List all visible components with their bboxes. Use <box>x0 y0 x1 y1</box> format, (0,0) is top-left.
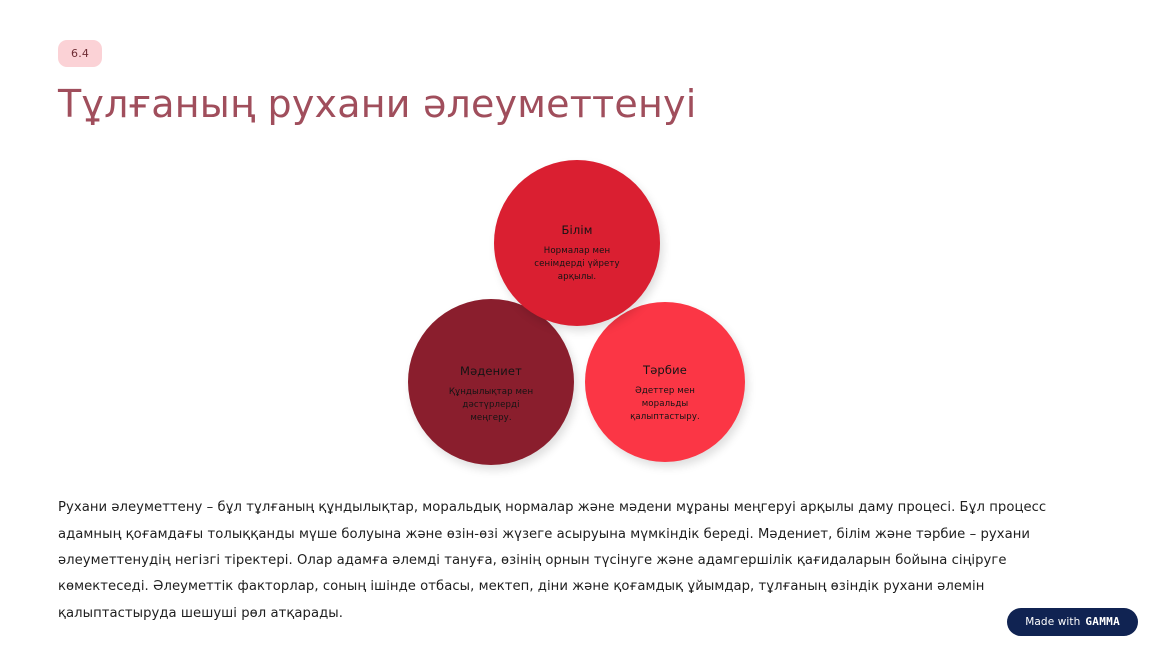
venn-circle-madeniet-description: Құндылықтар мен дәстүрлерді меңгеру. <box>441 386 541 425</box>
venn-circle-bilim-title: Білім <box>561 224 592 238</box>
venn-circle-madeniet-content: Мәдениет Құндылықтар мен дәстүрлерді мең… <box>408 339 574 424</box>
page-title: Тұлғаның рухани әлеуметтенуі <box>58 83 1098 127</box>
venn-circle-bilim[interactable]: Білім Нормалар мен сенімдерді үйрету арқ… <box>494 160 660 326</box>
venn-circle-madeniet-title: Мәдениет <box>460 365 522 379</box>
slide-header: 6.4 Тұлғаның рухани әлеуметтенуі <box>58 40 1098 127</box>
body-paragraph: Рухани әлеуметтену – бұл тұлғаның құндыл… <box>58 495 1068 627</box>
gamma-wordmark: GAMMA <box>1085 615 1120 628</box>
section-number-badge: 6.4 <box>58 40 102 67</box>
venn-circle-tarbie-description: Әдеттер мен моральды қалыптастыру. <box>615 385 715 424</box>
venn-circle-bilim-content: Білім Нормалар мен сенімдерді үйрету арқ… <box>494 202 660 283</box>
venn-circle-tarbie-title: Тәрбие <box>643 364 687 378</box>
venn-circle-tarbie-content: Тәрбие Әдеттер мен моральды қалыптастыру… <box>585 340 745 423</box>
venn-circle-tarbie[interactable]: Тәрбие Әдеттер мен моральды қалыптастыру… <box>585 302 745 462</box>
venn-circle-madeniet[interactable]: Мәдениет Құндылықтар мен дәстүрлерді мең… <box>408 299 574 465</box>
slide-canvas: 6.4 Тұлғаның рухани әлеуметтенуі Білім Н… <box>0 0 1152 648</box>
made-with-gamma-badge[interactable]: Made with GAMMA <box>1007 608 1138 636</box>
venn-circle-bilim-description: Нормалар мен сенімдерді үйрету арқылы. <box>527 245 627 284</box>
venn-diagram: Білім Нормалар мен сенімдерді үйрету арқ… <box>390 160 762 465</box>
made-with-label: Made with <box>1025 616 1080 628</box>
